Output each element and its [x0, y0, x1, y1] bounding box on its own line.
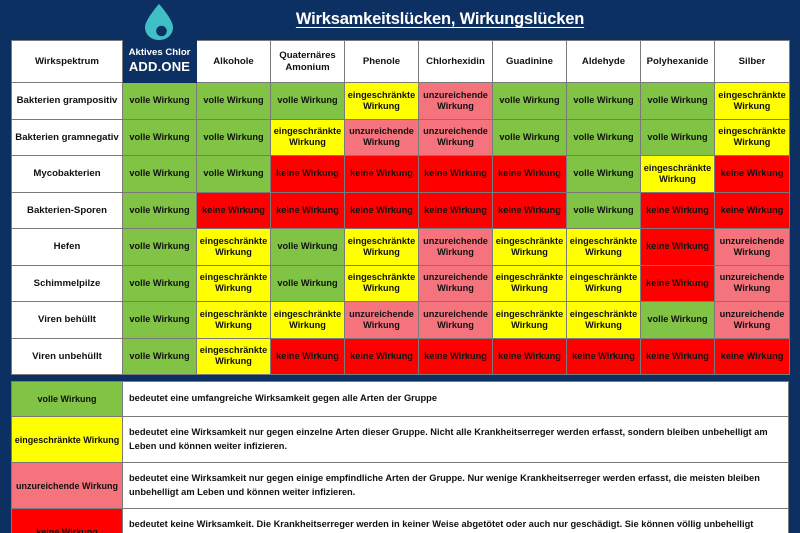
efficacy-cell: keine Wirkung	[197, 192, 271, 229]
efficacy-cell: keine Wirkung	[641, 192, 715, 229]
efficacy-cell: unzureichende Wirkung	[419, 229, 493, 266]
efficacy-cell: keine Wirkung	[493, 156, 567, 193]
efficacy-cell: volle Wirkung	[271, 83, 345, 120]
row-header-label: Schimmelpilze	[12, 265, 123, 302]
efficacy-cell: unzureichende Wirkung	[419, 119, 493, 156]
efficacy-cell: keine Wirkung	[567, 338, 641, 375]
efficacy-cell: volle Wirkung	[123, 119, 197, 156]
legend-swatch: volle Wirkung	[12, 382, 123, 417]
table-row: Hefenvolle Wirkungeingeschränkte Wirkung…	[12, 229, 790, 266]
table-row: Bakterien-Sporenvolle Wirkungkeine Wirku…	[12, 192, 790, 229]
col-line-2: Amonium	[285, 62, 329, 73]
page-header: Wirksamkeitslücken, Wirkungslücken	[0, 0, 800, 40]
efficacy-cell: volle Wirkung	[197, 119, 271, 156]
table-row: Viren unbehülltvolle Wirkungeingeschränk…	[12, 338, 790, 375]
efficacy-cell: eingeschränkte Wirkung	[567, 302, 641, 339]
efficacy-cell: unzureichende Wirkung	[345, 119, 419, 156]
row-header-label: Bakterien gramnegativ	[12, 119, 123, 156]
legend-row: eingeschränkte Wirkungbedeutet eine Wirk…	[12, 417, 789, 463]
column-header-quaternaeres-amonium: Quaternäres Amonium	[271, 41, 345, 83]
efficacy-cell: keine Wirkung	[715, 338, 790, 375]
column-header-polyhexanide: Polyhexanide	[641, 41, 715, 83]
efficacy-cell: volle Wirkung	[567, 192, 641, 229]
efficacy-cell: eingeschränkte Wirkung	[493, 265, 567, 302]
legend-description: bedeutet keine Wirksamkeit. Die Krankhei…	[123, 509, 789, 533]
efficacy-cell: keine Wirkung	[271, 192, 345, 229]
column-header-aktives-chlor-addone: Aktives Chlor ADD.ONE	[123, 41, 197, 83]
efficacy-cell: eingeschränkte Wirkung	[345, 265, 419, 302]
row-header-label: Viren behüllt	[12, 302, 123, 339]
column-header-alkohole: Alkohole	[197, 41, 271, 83]
efficacy-cell: volle Wirkung	[567, 119, 641, 156]
column-header-wirkspektrum: Wirkspektrum	[12, 41, 123, 83]
legend-row: volle Wirkungbedeutet eine umfangreiche …	[12, 382, 789, 417]
legend-swatch: unzureichende Wirkung	[12, 463, 123, 509]
efficacy-cell: eingeschränkte Wirkung	[567, 229, 641, 266]
row-header-label: Hefen	[12, 229, 123, 266]
col-line-1: Quaternäres	[279, 50, 336, 61]
efficacy-cell: eingeschränkte Wirkung	[567, 265, 641, 302]
table-header-row: Wirkspektrum Aktives Chlor ADD.ONE Alkoh…	[12, 41, 790, 83]
efficacy-cell: volle Wirkung	[271, 229, 345, 266]
efficacy-cell: volle Wirkung	[123, 338, 197, 375]
efficacy-cell: keine Wirkung	[271, 338, 345, 375]
legend-description: bedeutet eine Wirksamkeit nur gegen eini…	[123, 463, 789, 509]
efficacy-cell: volle Wirkung	[123, 265, 197, 302]
column-header-silber: Silber	[715, 41, 790, 83]
efficacy-cell: unzureichende Wirkung	[419, 265, 493, 302]
legend-row: keine Wirkungbedeutet keine Wirksamkeit.…	[12, 509, 789, 533]
table-row: Mycobakterienvolle Wirkungvolle Wirkungk…	[12, 156, 790, 193]
efficacy-cell: volle Wirkung	[123, 302, 197, 339]
efficacy-cell: volle Wirkung	[271, 265, 345, 302]
efficacy-cell: keine Wirkung	[419, 192, 493, 229]
row-header-label: Bakterien grampositiv	[12, 83, 123, 120]
efficacy-cell: keine Wirkung	[345, 156, 419, 193]
legend-body: volle Wirkungbedeutet eine umfangreiche …	[12, 382, 789, 533]
column-header-guadinine: Guadinine	[493, 41, 567, 83]
table-row: Bakterien grampositivvolle Wirkungvolle …	[12, 83, 790, 120]
efficacy-cell: unzureichende Wirkung	[715, 265, 790, 302]
legend-description: bedeutet eine umfangreiche Wirksamkeit g…	[123, 382, 789, 417]
efficacy-cell: volle Wirkung	[641, 119, 715, 156]
efficacy-cell: volle Wirkung	[567, 83, 641, 120]
legend-row: unzureichende Wirkungbedeutet eine Wirks…	[12, 463, 789, 509]
legend-swatch: keine Wirkung	[12, 509, 123, 533]
efficacy-cell: eingeschränkte Wirkung	[345, 229, 419, 266]
efficacy-cell: eingeschränkte Wirkung	[641, 156, 715, 193]
efficacy-cell: keine Wirkung	[715, 156, 790, 193]
efficacy-cell: volle Wirkung	[123, 229, 197, 266]
efficacy-cell: eingeschränkte Wirkung	[493, 302, 567, 339]
legend-table: volle Wirkungbedeutet eine umfangreiche …	[11, 381, 789, 533]
water-drop-icon	[140, 3, 178, 41]
efficacy-cell: eingeschränkte Wirkung	[271, 302, 345, 339]
efficacy-cell: eingeschränkte Wirkung	[197, 338, 271, 375]
table-body: Bakterien grampositivvolle Wirkungvolle …	[12, 83, 790, 375]
legend-swatch: eingeschränkte Wirkung	[12, 417, 123, 463]
efficacy-cell: volle Wirkung	[641, 83, 715, 120]
efficacy-cell: volle Wirkung	[123, 83, 197, 120]
efficacy-cell: eingeschränkte Wirkung	[271, 119, 345, 156]
efficacy-cell: eingeschränkte Wirkung	[197, 229, 271, 266]
brand-line-1: Aktives Chlor	[125, 47, 194, 59]
efficacy-cell: volle Wirkung	[123, 192, 197, 229]
efficacy-cell: eingeschränkte Wirkung	[345, 83, 419, 120]
legend-description: bedeutet eine Wirksamkeit nur gegen einz…	[123, 417, 789, 463]
efficacy-cell: keine Wirkung	[345, 338, 419, 375]
efficacy-cell: keine Wirkung	[419, 338, 493, 375]
efficacy-cell: keine Wirkung	[641, 338, 715, 375]
efficacy-cell: eingeschränkte Wirkung	[715, 83, 790, 120]
table-row: Bakterien gramnegativvolle Wirkungvolle …	[12, 119, 790, 156]
column-header-chlorhexidin: Chlorhexidin	[419, 41, 493, 83]
efficacy-cell: unzureichende Wirkung	[419, 83, 493, 120]
row-header-label: Bakterien-Sporen	[12, 192, 123, 229]
efficacy-cell: unzureichende Wirkung	[715, 302, 790, 339]
column-header-phenole: Phenole	[345, 41, 419, 83]
efficacy-cell: eingeschränkte Wirkung	[197, 302, 271, 339]
efficacy-cell: volle Wirkung	[197, 156, 271, 193]
efficacy-cell: keine Wirkung	[715, 192, 790, 229]
efficacy-cell: keine Wirkung	[641, 229, 715, 266]
efficacy-cell: eingeschränkte Wirkung	[493, 229, 567, 266]
efficacy-cell: volle Wirkung	[641, 302, 715, 339]
infographic-page: Wirksamkeitslücken, Wirkungslücken Wirks…	[0, 0, 800, 533]
efficacy-cell: volle Wirkung	[123, 156, 197, 193]
efficacy-matrix-table: Wirkspektrum Aktives Chlor ADD.ONE Alkoh…	[11, 40, 790, 375]
page-title: Wirksamkeitslücken, Wirkungslücken	[230, 10, 650, 29]
efficacy-cell: keine Wirkung	[419, 156, 493, 193]
row-header-label: Mycobakterien	[12, 156, 123, 193]
table-row: Viren behülltvolle Wirkungeingeschränkte…	[12, 302, 790, 339]
column-header-aldehyde: Aldehyde	[567, 41, 641, 83]
efficacy-cell: unzureichende Wirkung	[715, 229, 790, 266]
efficacy-cell: volle Wirkung	[197, 83, 271, 120]
brand-line-2: ADD.ONE	[125, 59, 194, 75]
efficacy-cell: keine Wirkung	[641, 265, 715, 302]
efficacy-cell: eingeschränkte Wirkung	[715, 119, 790, 156]
table-row: Schimmelpilzevolle Wirkungeingeschränkte…	[12, 265, 790, 302]
efficacy-cell: keine Wirkung	[493, 192, 567, 229]
row-header-label: Viren unbehüllt	[12, 338, 123, 375]
efficacy-cell: keine Wirkung	[271, 156, 345, 193]
efficacy-cell: keine Wirkung	[493, 338, 567, 375]
efficacy-cell: eingeschränkte Wirkung	[197, 265, 271, 302]
efficacy-cell: keine Wirkung	[345, 192, 419, 229]
efficacy-cell: volle Wirkung	[493, 83, 567, 120]
efficacy-cell: volle Wirkung	[567, 156, 641, 193]
efficacy-cell: unzureichende Wirkung	[419, 302, 493, 339]
efficacy-cell: volle Wirkung	[493, 119, 567, 156]
efficacy-cell: unzureichende Wirkung	[345, 302, 419, 339]
